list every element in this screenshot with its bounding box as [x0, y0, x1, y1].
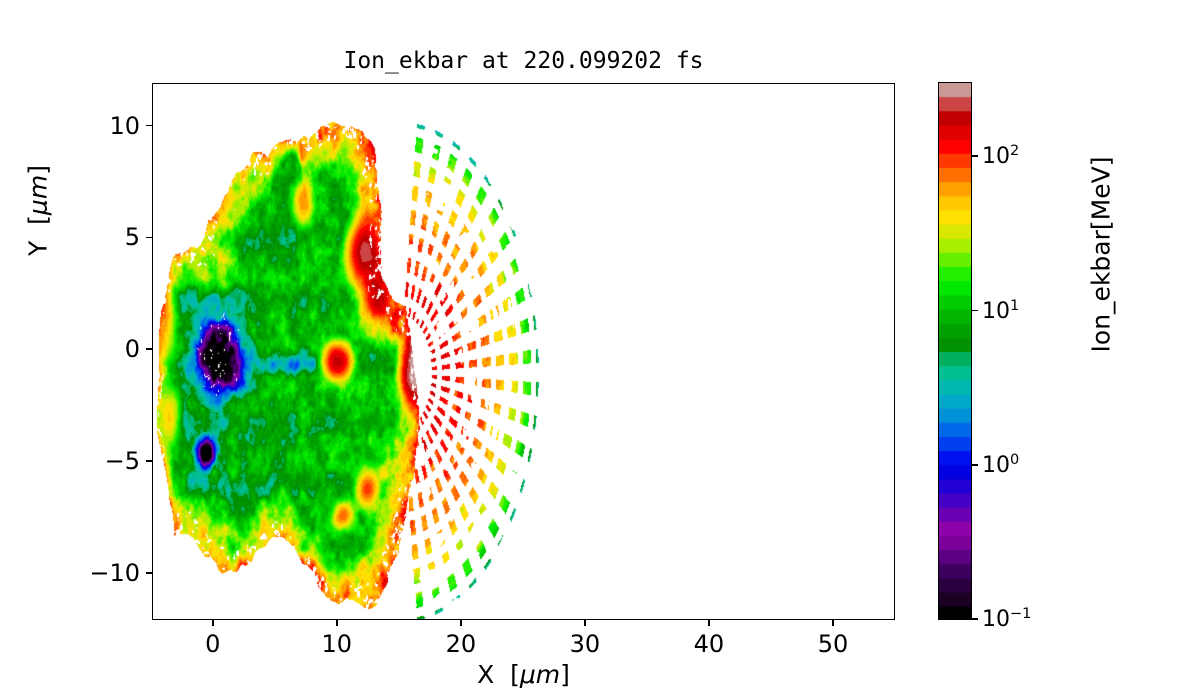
page-title: Ion_ekbar at 220.099202 fs — [152, 48, 895, 74]
colorbar-gradient — [939, 83, 972, 620]
colorbar-tick-label: 10−1 — [982, 606, 1031, 632]
x-tick-mark — [832, 620, 834, 626]
y-tick-mark — [146, 125, 152, 127]
x-tick-mark — [336, 620, 338, 626]
x-tick-label: 0 — [205, 630, 220, 658]
colorbar — [938, 82, 972, 620]
x-tick-label: 50 — [818, 630, 849, 658]
y-tick-label: −5 — [22, 447, 140, 475]
x-tick-mark — [212, 620, 214, 626]
colorbar-tick-mark — [972, 464, 978, 466]
x-tick-label: 40 — [694, 630, 725, 658]
y-tick-label: −10 — [22, 559, 140, 587]
y-axis-label-prefix: Y [ — [24, 215, 53, 256]
x-tick-label: 30 — [570, 630, 601, 658]
x-tick-label: 20 — [446, 630, 477, 658]
heatmap-image — [153, 84, 895, 620]
y-axis-label-suffix: ] — [24, 165, 53, 175]
y-tick-mark — [146, 348, 152, 350]
x-tick-mark — [584, 620, 586, 626]
y-axis-label: Y [μm] — [24, 111, 53, 311]
x-axis-label-prefix: X [ — [477, 660, 520, 689]
y-tick-label: 0 — [22, 335, 140, 363]
x-tick-mark — [708, 620, 710, 626]
x-axis-label: X [μm] — [152, 660, 895, 689]
y-axis-label-unit: μm — [24, 175, 53, 215]
colorbar-label: Ion_ekbar[MeV] — [1087, 105, 1116, 405]
plot-axes — [152, 83, 895, 620]
colorbar-tick-mark — [972, 155, 978, 157]
colorbar-tick-label: 101 — [982, 297, 1019, 323]
x-tick-label: 10 — [322, 630, 353, 658]
colorbar-tick-mark — [972, 310, 978, 312]
y-tick-mark — [146, 237, 152, 239]
y-tick-mark — [146, 460, 152, 462]
y-tick-mark — [146, 572, 152, 574]
x-tick-mark — [460, 620, 462, 626]
colorbar-tick-label: 102 — [982, 143, 1019, 169]
x-axis-label-suffix: ] — [560, 660, 570, 689]
x-axis-label-unit: μm — [520, 660, 560, 689]
colorbar-tick-mark — [972, 618, 978, 620]
figure-canvas: Ion_ekbar at 220.099202 fs 0102030405010… — [0, 0, 1200, 700]
colorbar-tick-label: 100 — [982, 452, 1019, 478]
